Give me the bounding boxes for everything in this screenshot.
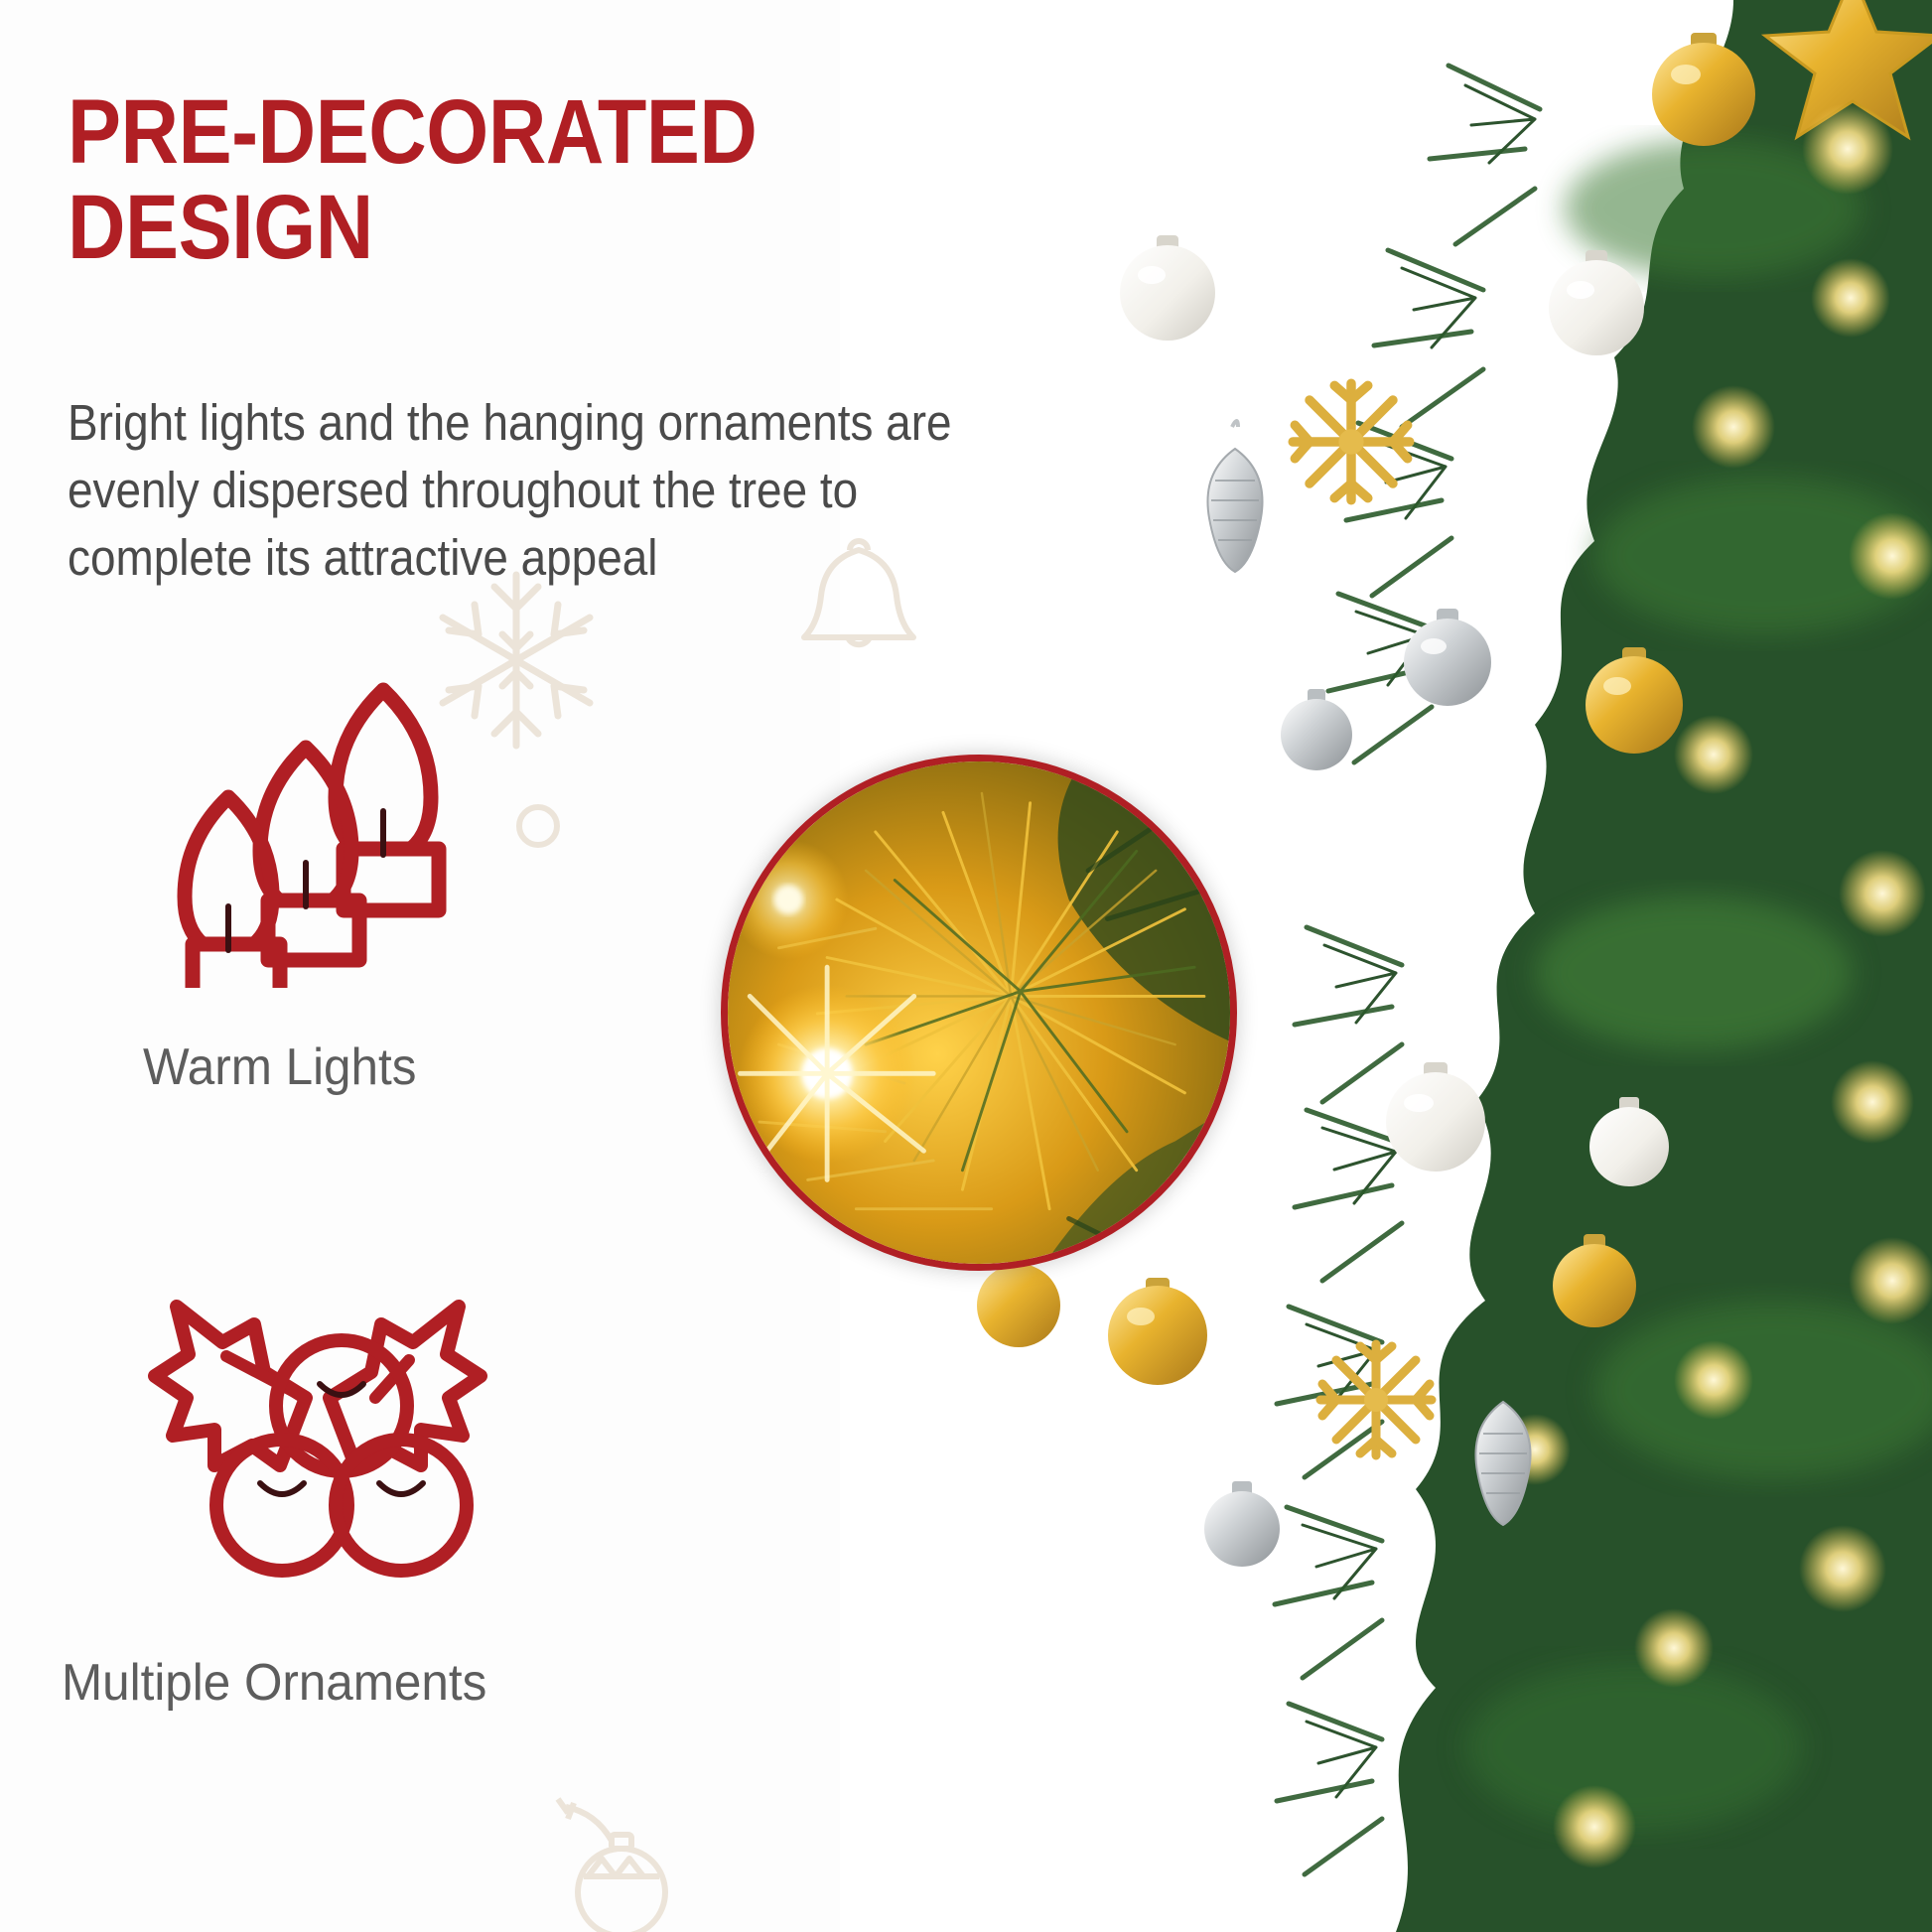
gold-glitter-snowflake xyxy=(1293,383,1410,500)
close-up-detail-image xyxy=(721,755,1237,1271)
christmas-bulb-string-icon xyxy=(149,660,477,988)
page-title: PRE-DECORATED DESIGN xyxy=(68,85,906,275)
holly-berry-icon xyxy=(131,1281,488,1608)
marketing-banner: PRE-DECORATED DESIGN Bright lights and t… xyxy=(0,0,1932,1932)
feature-label-warm-lights: Warm Lights xyxy=(143,1037,416,1097)
description-text: Bright lights and the hanging ornaments … xyxy=(68,389,970,591)
close-up-detail-circle xyxy=(721,755,1237,1271)
bauble-icon xyxy=(536,1777,705,1932)
feature-label-multiple-ornaments: Multiple Ornaments xyxy=(62,1653,486,1713)
feature-multiple-ornaments: Multiple Ornaments xyxy=(131,1281,727,1747)
feature-warm-lights: Warm Lights xyxy=(149,660,705,1117)
